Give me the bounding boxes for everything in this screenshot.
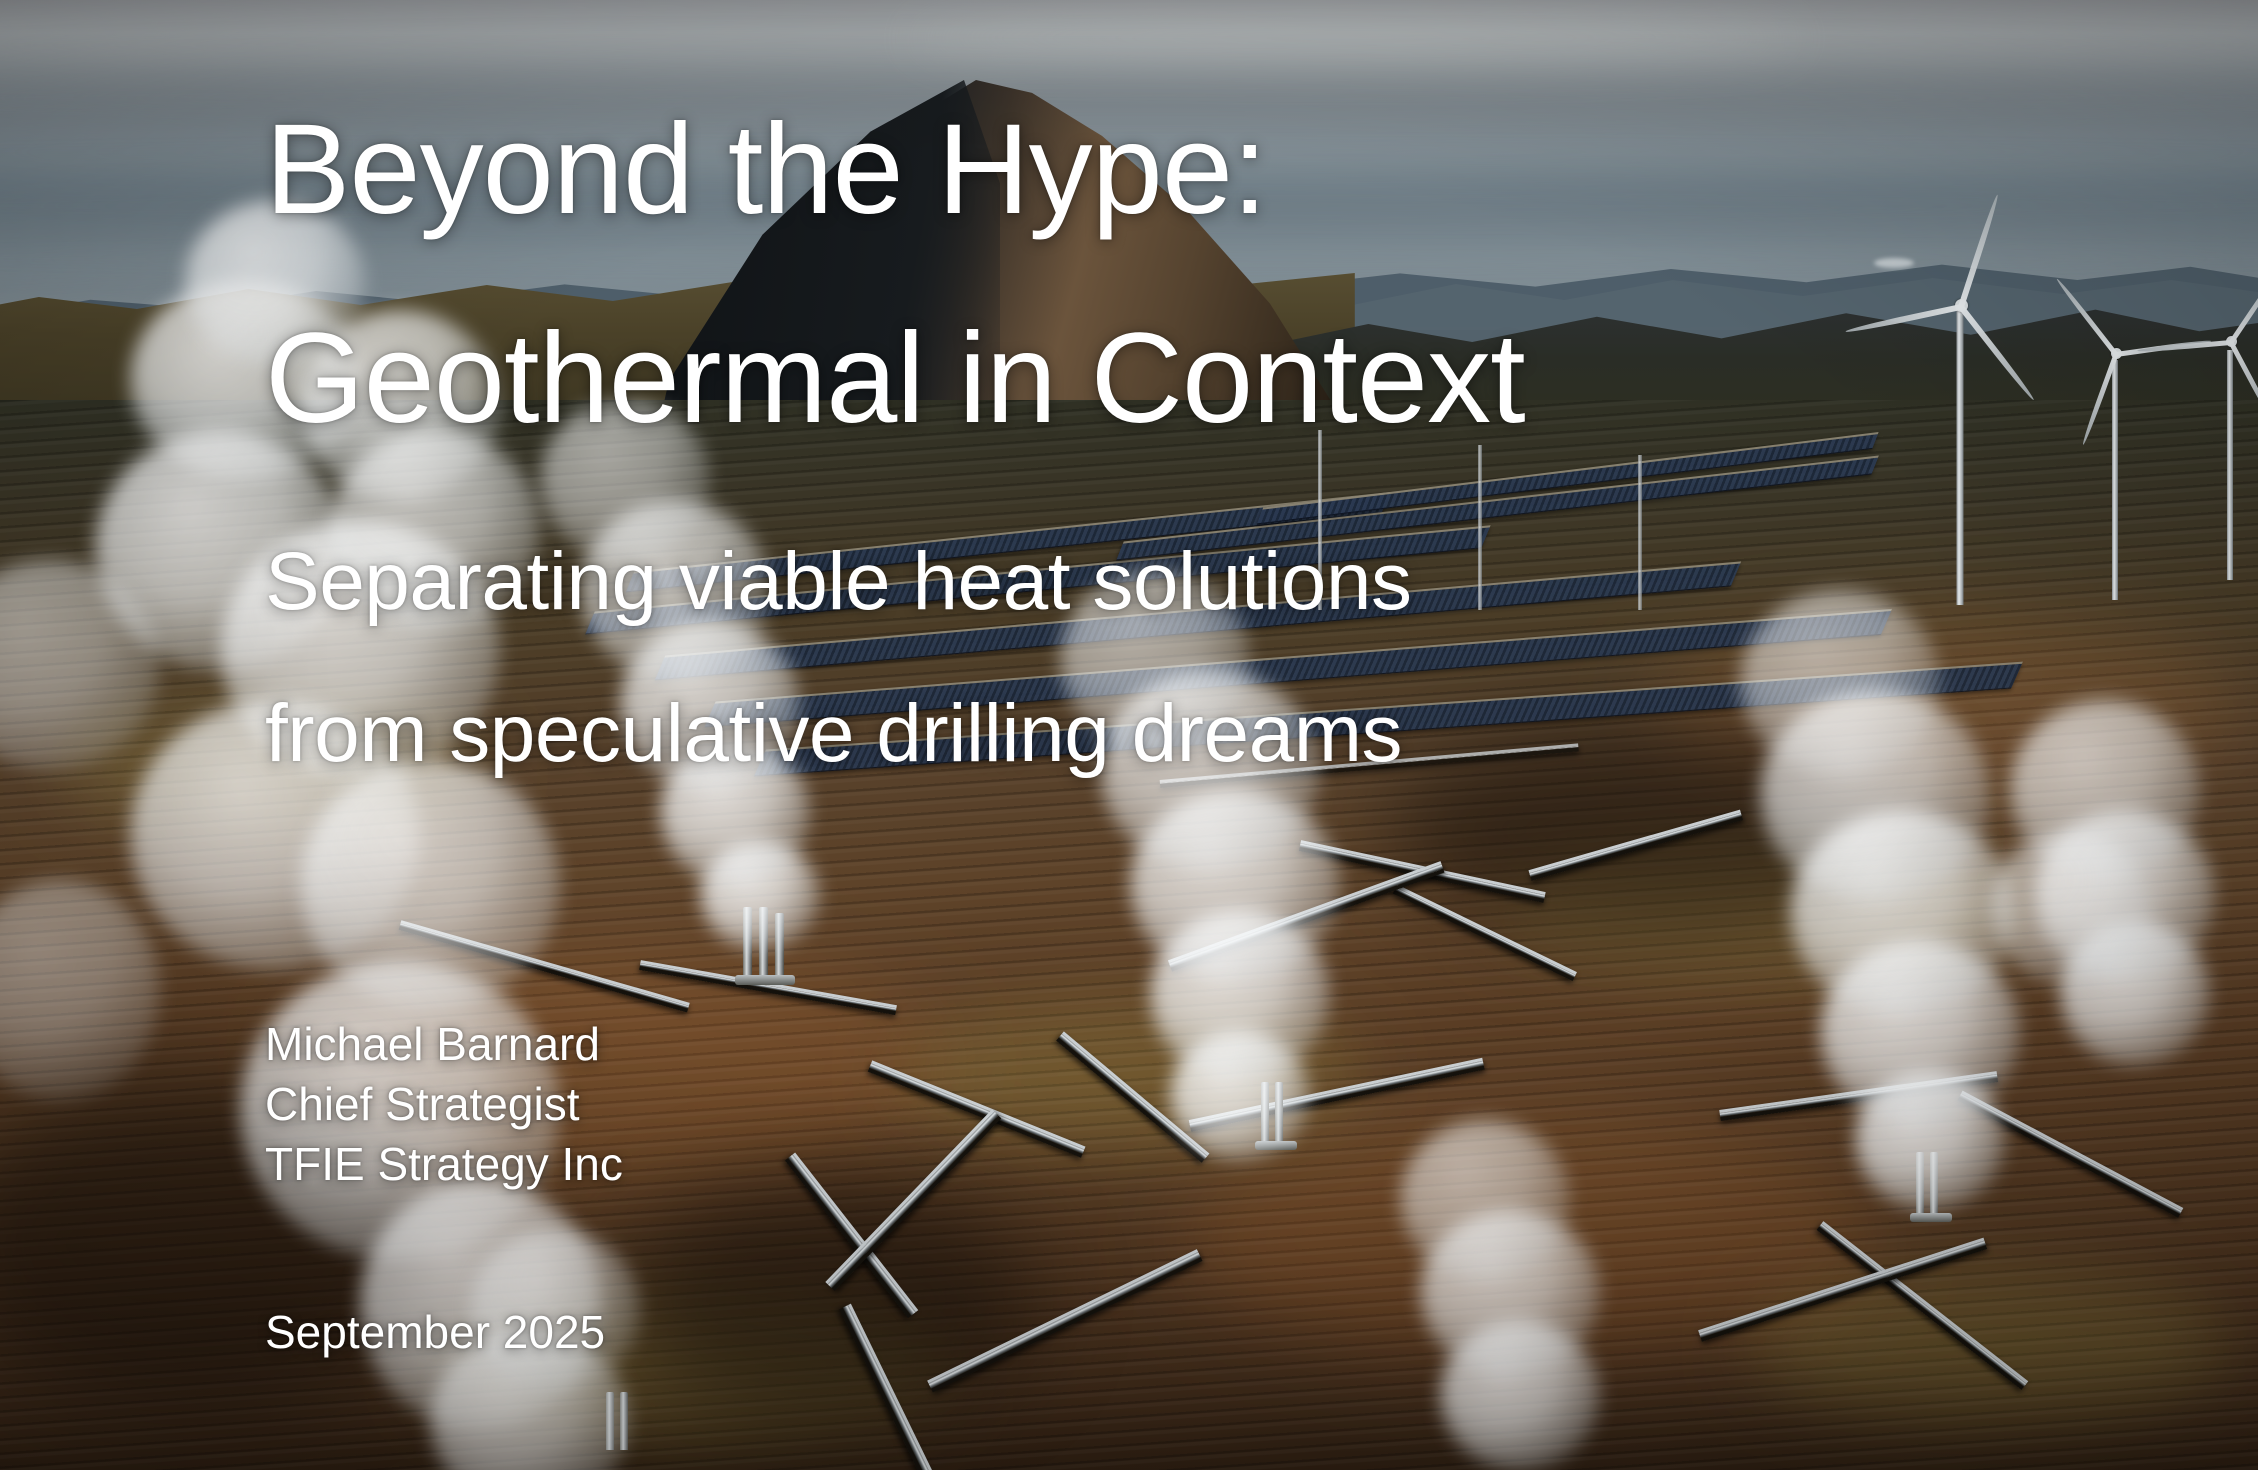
slide-subtitle-line-1: Separating viable heat solutions xyxy=(265,533,1411,631)
presenter-name: Michael Barnard xyxy=(265,1015,623,1075)
slide-subtitle-line-2: from speculative drilling dreams xyxy=(265,685,1402,783)
slide-text-layer: Beyond the Hype: Geothermal in Context S… xyxy=(0,0,2258,1470)
slide-title-line-2: Geothermal in Context xyxy=(265,305,1525,453)
title-slide: Beyond the Hype: Geothermal in Context S… xyxy=(0,0,2258,1470)
presenter-organization: TFIE Strategy Inc xyxy=(265,1135,623,1195)
slide-title-line-1: Beyond the Hype: xyxy=(265,96,1267,244)
presenter-role: Chief Strategist xyxy=(265,1075,623,1135)
presenter-byline: Michael Barnard Chief Strategist TFIE St… xyxy=(265,1015,623,1194)
presentation-date: September 2025 xyxy=(265,1305,605,1359)
